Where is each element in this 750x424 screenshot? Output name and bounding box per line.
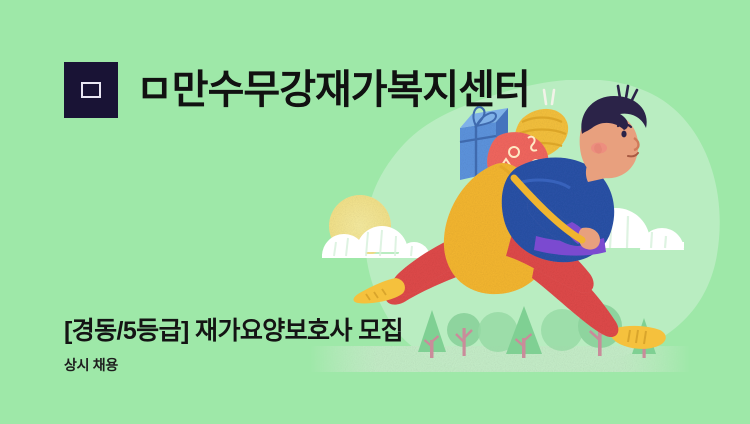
banner-header: ㅁ만수무강재가복지센터 xyxy=(64,62,530,118)
missing-glyph-icon xyxy=(81,82,101,98)
runner-back-shoe xyxy=(354,278,405,303)
cloud-left xyxy=(322,226,430,258)
job-posting-banner: ㅁ만수무강재가복지센터 xyxy=(0,0,750,424)
patterned-ball xyxy=(487,132,548,192)
sun-shape xyxy=(329,195,391,257)
cloud-right xyxy=(532,208,684,250)
runner-front-leg xyxy=(506,226,618,337)
tree-row xyxy=(418,304,656,358)
logo-placeholder-box xyxy=(64,62,118,118)
runner-back-leg xyxy=(386,230,497,305)
posting-copy: [경동/5등급] 재가요양보호사 모집 상시 채용 xyxy=(64,317,403,372)
runner-head xyxy=(580,86,647,178)
posting-subtitle: 상시 채용 xyxy=(64,358,403,372)
runner-front-shoe xyxy=(610,326,666,349)
organization-title: ㅁ만수무강재가복지센터 xyxy=(136,70,530,110)
gift-sack xyxy=(444,163,553,294)
runner-arm xyxy=(528,195,600,249)
runner-torso xyxy=(502,158,614,263)
gift-box xyxy=(460,107,508,180)
posting-title: [경동/5등급] 재가요양보호사 모집 xyxy=(64,317,403,346)
